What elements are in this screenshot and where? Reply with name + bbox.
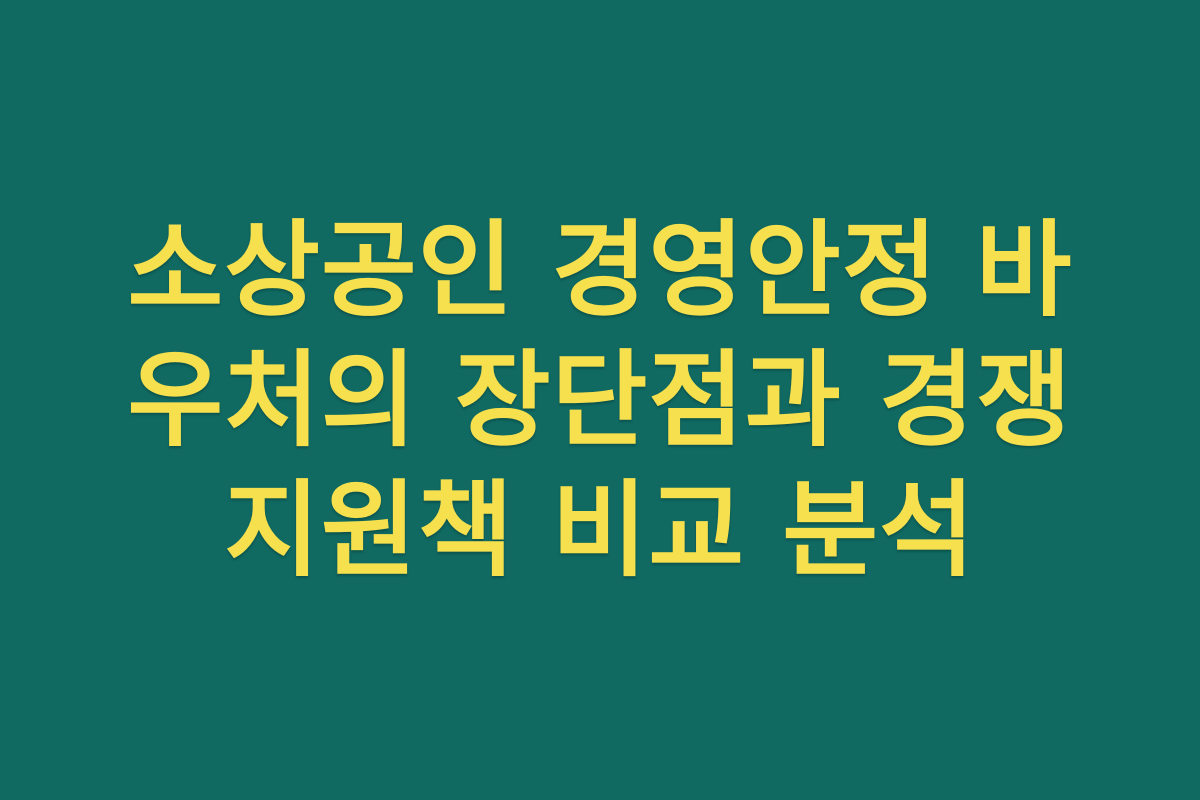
page-title: 소상공인 경영안정 바우처의 장단점과 경쟁 지원책 비교 분석 — [90, 205, 1110, 595]
title-text-block: 소상공인 경영안정 바우처의 장단점과 경쟁 지원책 비교 분석 — [90, 205, 1110, 595]
title-card: 소상공인 경영안정 바우처의 장단점과 경쟁 지원책 비교 분석 — [0, 0, 1200, 800]
